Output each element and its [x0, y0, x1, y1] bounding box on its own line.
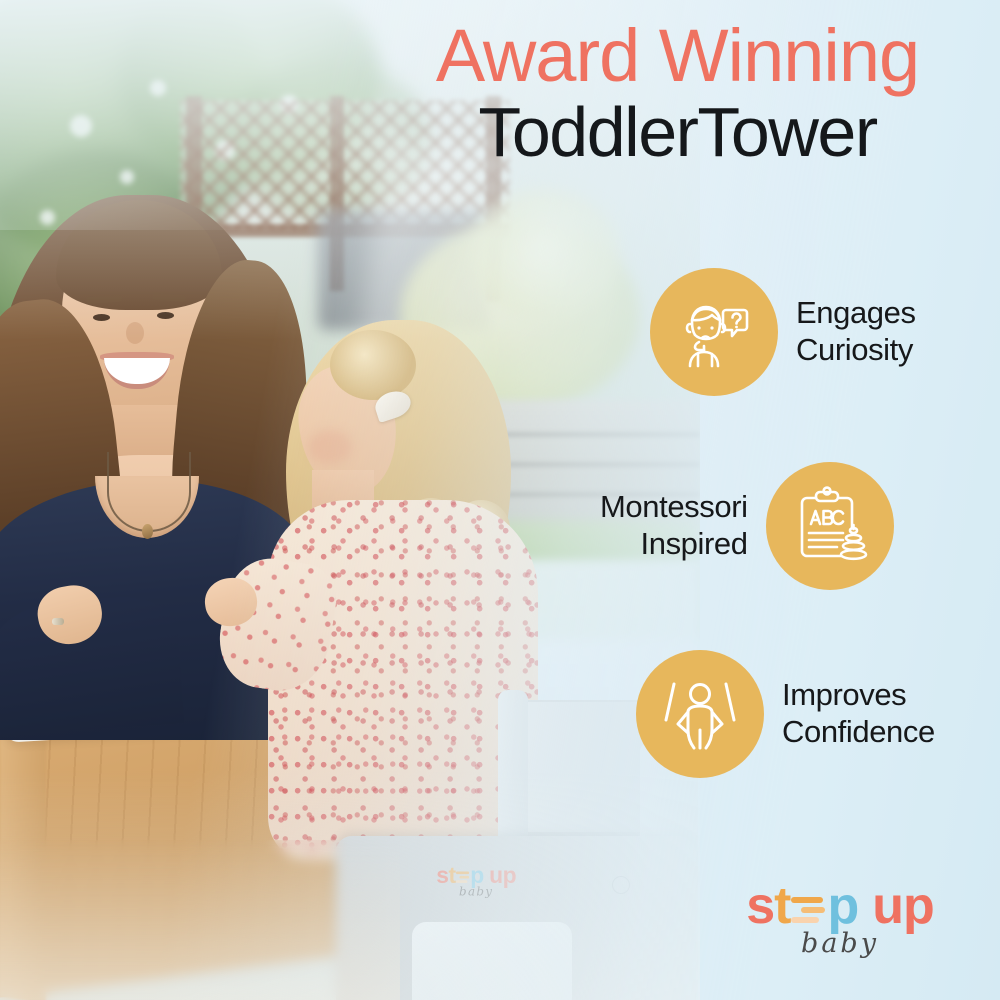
confident-standing-child-icon [636, 650, 764, 778]
tower-side-rail [498, 690, 528, 850]
toddler-cheek [308, 430, 352, 464]
poster-canvas: inuu [0, 0, 1000, 1000]
product-logo-up: up [489, 864, 516, 887]
mother-eye [93, 314, 110, 321]
headline-line-2: ToddlerTower [370, 97, 985, 168]
tower-certification-badge [612, 876, 630, 894]
brand-logo-up: up [872, 880, 934, 932]
bokeh-speck [150, 80, 166, 96]
product-logo-tagline: baby [452, 885, 500, 899]
brand-logo-s: s [746, 880, 774, 932]
product-logo-t: t [449, 864, 456, 887]
feature-item-engages-curiosity[interactable]: Engages Curiosity [650, 268, 916, 396]
bokeh-speck [40, 210, 55, 225]
feature-list: Engages Curiosity [600, 250, 1000, 810]
feature-item-montessori-inspired[interactable]: Montessori Inspired [600, 462, 894, 590]
necklace-pendant [142, 524, 153, 539]
abc-clipboard-stacking-rings-icon [766, 462, 894, 590]
feature-label: Montessori Inspired [600, 489, 748, 562]
bokeh-speck [70, 115, 92, 137]
product-logo: s t p up baby [452, 864, 500, 899]
brand-logo-t: t [774, 880, 790, 932]
product-logo-step-e-icon [456, 871, 469, 882]
mother-eye [157, 312, 174, 319]
mother-necklace [107, 452, 191, 532]
brand-logo[interactable]: s t p up baby [735, 880, 945, 975]
headline-line-1: Award Winning [370, 20, 985, 93]
feature-label: Engages Curiosity [796, 295, 916, 368]
tower-cutout [412, 922, 572, 1000]
thinking-child-question-icon [650, 268, 778, 396]
feature-item-improves-confidence[interactable]: Improves Confidence [636, 650, 935, 778]
product-logo-s: s [436, 864, 448, 887]
product-logo-p: p [470, 864, 484, 887]
brand-logo-wordmark: s t p up [735, 880, 945, 932]
brand-logo-step-e-icon [791, 897, 825, 923]
feature-label: Improves Confidence [782, 677, 935, 750]
headline-block: Award Winning ToddlerTower [370, 20, 985, 168]
bokeh-speck [120, 170, 134, 184]
mother-nose [126, 322, 144, 344]
wedding-ring [52, 618, 64, 625]
hair-curl [330, 330, 416, 400]
table-foreground-blur [0, 840, 400, 1000]
brand-logo-p: p [827, 880, 858, 932]
